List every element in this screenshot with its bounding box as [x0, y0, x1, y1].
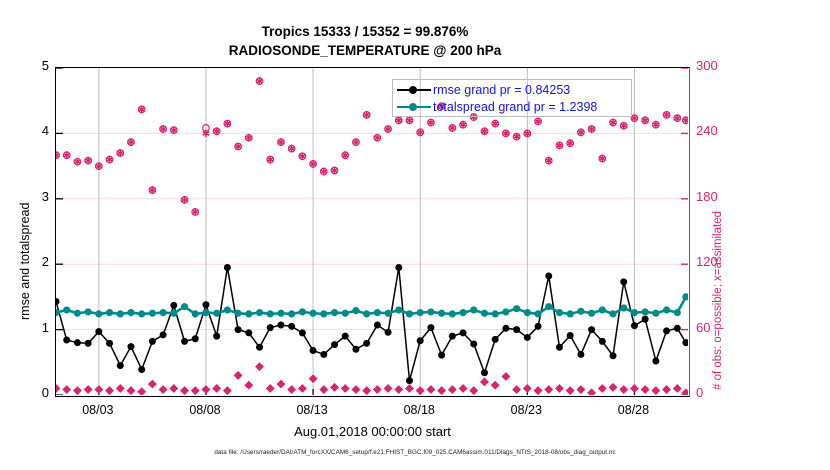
data-file-caption: data file: /Users/raeder/DAI/ATM_forcXX/…: [0, 449, 830, 456]
y-tick-right: 60: [696, 320, 738, 335]
x-tick: 08/18: [384, 403, 454, 417]
legend-label-totalspread: totalspread grand pr = 1.2398: [431, 100, 597, 114]
page-title: Tropics 15333 / 15352 = 99.876% RADIOSON…: [0, 22, 730, 60]
y-tick-right: 240: [696, 123, 738, 138]
legend-entry-totalspread[interactable]: totalspread grand pr = 1.2398: [397, 98, 597, 115]
y-tick-left: 5: [7, 58, 49, 73]
y-axis-label-right: # of obs: o=possible; x=assimilated: [712, 211, 724, 390]
title-line-2: RADIOSONDE_TEMPERATURE @ 200 hPa: [0, 41, 730, 60]
x-tick: 08/08: [170, 403, 240, 417]
x-tick: 08/28: [598, 403, 668, 417]
y-tick-left: 4: [7, 123, 49, 138]
series-4: [56, 362, 688, 395]
legend-marker-totalspread: [397, 101, 431, 113]
x-tick: 08/03: [63, 403, 133, 417]
y-tick-right: 0: [696, 385, 738, 400]
y-tick-right: 120: [696, 254, 738, 269]
y-tick-left: 1: [7, 320, 49, 335]
y-tick-left: 0: [7, 385, 49, 400]
legend-entry-rmse[interactable]: rmse grand pr = 0.84253: [397, 81, 570, 98]
legend[interactable]: rmse grand pr = 0.84253 totalspread gran…: [392, 79, 632, 117]
legend-label-rmse: rmse grand pr = 0.84253: [431, 83, 570, 97]
series-0: [56, 264, 688, 384]
x-axis-label: Aug.01,2018 00:00:00 start: [55, 424, 690, 439]
x-tick: 08/23: [491, 403, 561, 417]
y-tick-right: 180: [696, 189, 738, 204]
title-line-1: Tropics 15333 / 15352 = 99.876%: [0, 22, 730, 41]
y-tick-right: 300: [696, 58, 738, 73]
figure-canvas: Tropics 15333 / 15352 = 99.876% RADIOSON…: [0, 0, 830, 470]
y-tick-left: 2: [7, 254, 49, 269]
plot-svg: [56, 68, 688, 395]
y-tick-left: 3: [7, 189, 49, 204]
legend-marker-rmse: [397, 84, 431, 96]
x-tick: 08/13: [277, 403, 347, 417]
series-1: [56, 293, 688, 317]
